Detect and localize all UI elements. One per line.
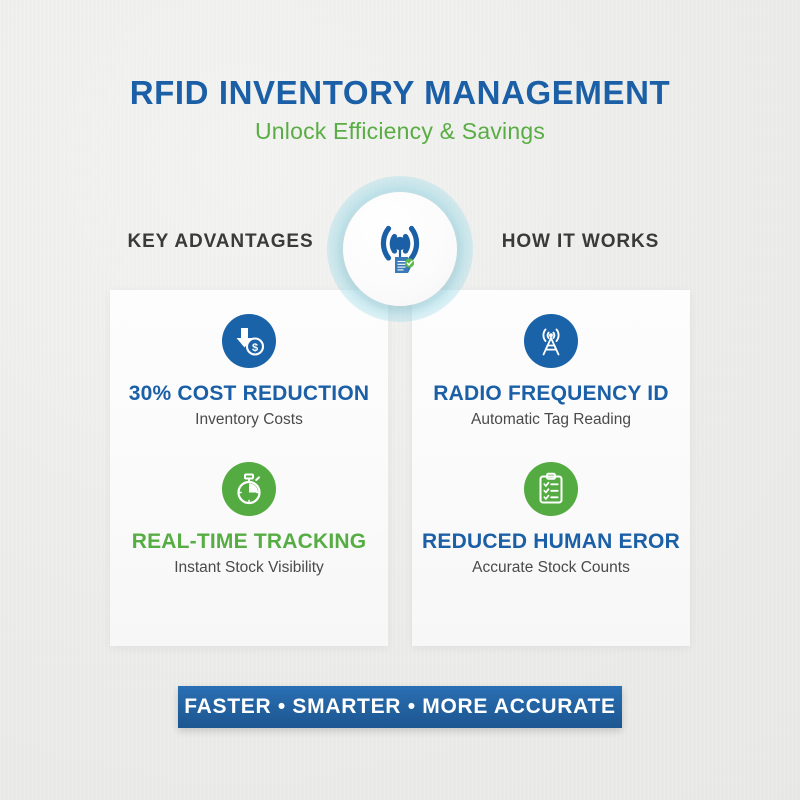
item-title: REAL-TIME TRACKING [110, 530, 388, 554]
clipboard-checklist-icon [534, 472, 568, 506]
reduced-error-icon-badge [524, 462, 578, 516]
infographic-canvas: RFID INVENTORY MANAGEMENT Unlock Efficie… [0, 0, 800, 800]
list-item: $ 30% COST REDUCTION Inventory Costs [110, 314, 388, 429]
section-label-how-it-works: HOW IT WORKS [468, 231, 693, 253]
item-subtitle: Automatic Tag Reading [412, 411, 690, 429]
page-subtitle: Unlock Efficiency & Savings [0, 118, 800, 145]
rfid-signal-tag-icon [363, 212, 437, 286]
header: RFID INVENTORY MANAGEMENT Unlock Efficie… [0, 76, 800, 145]
item-title: 30% COST REDUCTION [110, 382, 388, 406]
center-badge-circle [343, 192, 457, 306]
svg-text:$: $ [252, 342, 258, 354]
center-badge [343, 192, 457, 306]
radio-frequency-icon-badge [524, 314, 578, 368]
list-item: REAL-TIME TRACKING Instant Stock Visibil… [110, 462, 388, 577]
cost-reduction-icon-badge: $ [222, 314, 276, 368]
item-title: RADIO FREQUENCY ID [412, 382, 690, 406]
list-item: REDUCED HUMAN EROR Accurate Stock Counts [412, 462, 690, 577]
card-how-it-works: RADIO FREQUENCY ID Automatic Tag Reading [412, 290, 690, 646]
card-key-advantages: $ 30% COST REDUCTION Inventory Costs [110, 290, 388, 646]
page-title: RFID INVENTORY MANAGEMENT [0, 76, 800, 111]
radio-tower-icon [534, 324, 568, 358]
stopwatch-icon [232, 472, 266, 506]
item-title: REDUCED HUMAN EROR [412, 530, 690, 554]
real-time-tracking-icon-badge [222, 462, 276, 516]
summary-banner-text: FASTER • SMARTER • MORE ACCURATE [184, 695, 615, 719]
summary-banner: FASTER • SMARTER • MORE ACCURATE [178, 686, 622, 728]
item-subtitle: Inventory Costs [110, 411, 388, 429]
item-subtitle: Instant Stock Visibility [110, 559, 388, 577]
list-item: RADIO FREQUENCY ID Automatic Tag Reading [412, 314, 690, 429]
cost-down-arrow-dollar-icon: $ [232, 324, 266, 358]
section-label-key-advantages: KEY ADVANTAGES [108, 231, 333, 253]
item-subtitle: Accurate Stock Counts [412, 559, 690, 577]
